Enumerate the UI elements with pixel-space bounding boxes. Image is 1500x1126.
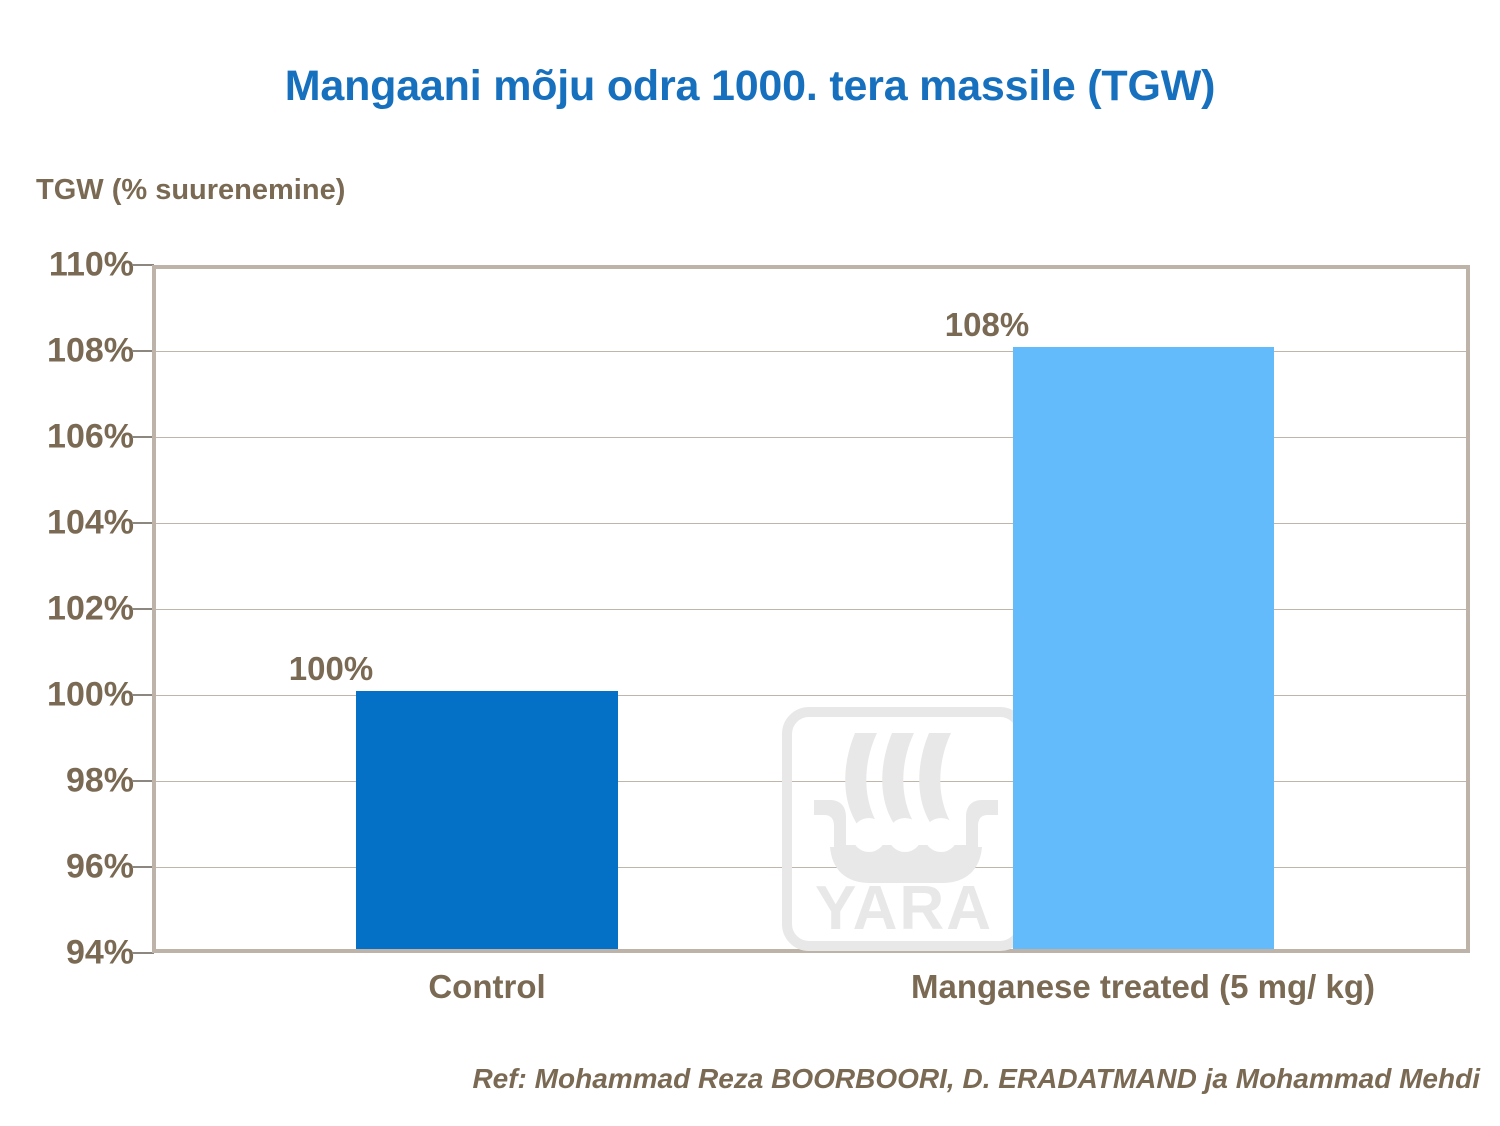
yara-watermark-logo: YARA: [782, 707, 1027, 951]
y-tick-label-102: 102%: [0, 590, 134, 629]
y-tick-mark-94: [132, 952, 154, 954]
x-axis-label-control: Control: [428, 968, 545, 1006]
bar-control[interactable]: [356, 691, 618, 949]
chart-slide: Mangaani mõju odra 1000. tera massile (T…: [0, 0, 1500, 1126]
y-axis-caption: TGW (% suurenemine): [36, 174, 345, 207]
svg-text:YARA: YARA: [815, 874, 993, 943]
y-tick-mark-108: [132, 350, 154, 352]
y-tick-label-110: 110%: [0, 246, 134, 285]
x-axis-label-treated: Manganese treated (5 mg/ kg): [911, 968, 1375, 1006]
y-tick-label-94: 94%: [0, 934, 134, 973]
y-tick-mark-102: [132, 608, 154, 610]
y-tick-mark-100: [132, 694, 154, 696]
y-tick-label-98: 98%: [0, 762, 134, 801]
bar-value-treated: 108%: [945, 306, 1029, 344]
reference-note: Ref: Mohammad Reza BOORBOORI, D. ERADATM…: [472, 1063, 1480, 1095]
y-tick-label-106: 106%: [0, 418, 134, 457]
y-tick-mark-110: [132, 264, 154, 266]
chart-title: Mangaani mõju odra 1000. tera massile (T…: [0, 62, 1500, 111]
bar-value-control: 100%: [289, 650, 373, 688]
y-tick-label-108: 108%: [0, 332, 134, 371]
y-tick-label-96: 96%: [0, 848, 134, 887]
y-tick-label-100: 100%: [0, 676, 134, 715]
y-tick-mark-96: [132, 866, 154, 868]
y-tick-label-104: 104%: [0, 504, 134, 543]
y-tick-mark-98: [132, 780, 154, 782]
y-tick-mark-106: [132, 436, 154, 438]
bar-treated[interactable]: [1013, 347, 1274, 949]
y-tick-mark-104: [132, 522, 154, 524]
plot-area: YARA: [152, 265, 1470, 953]
